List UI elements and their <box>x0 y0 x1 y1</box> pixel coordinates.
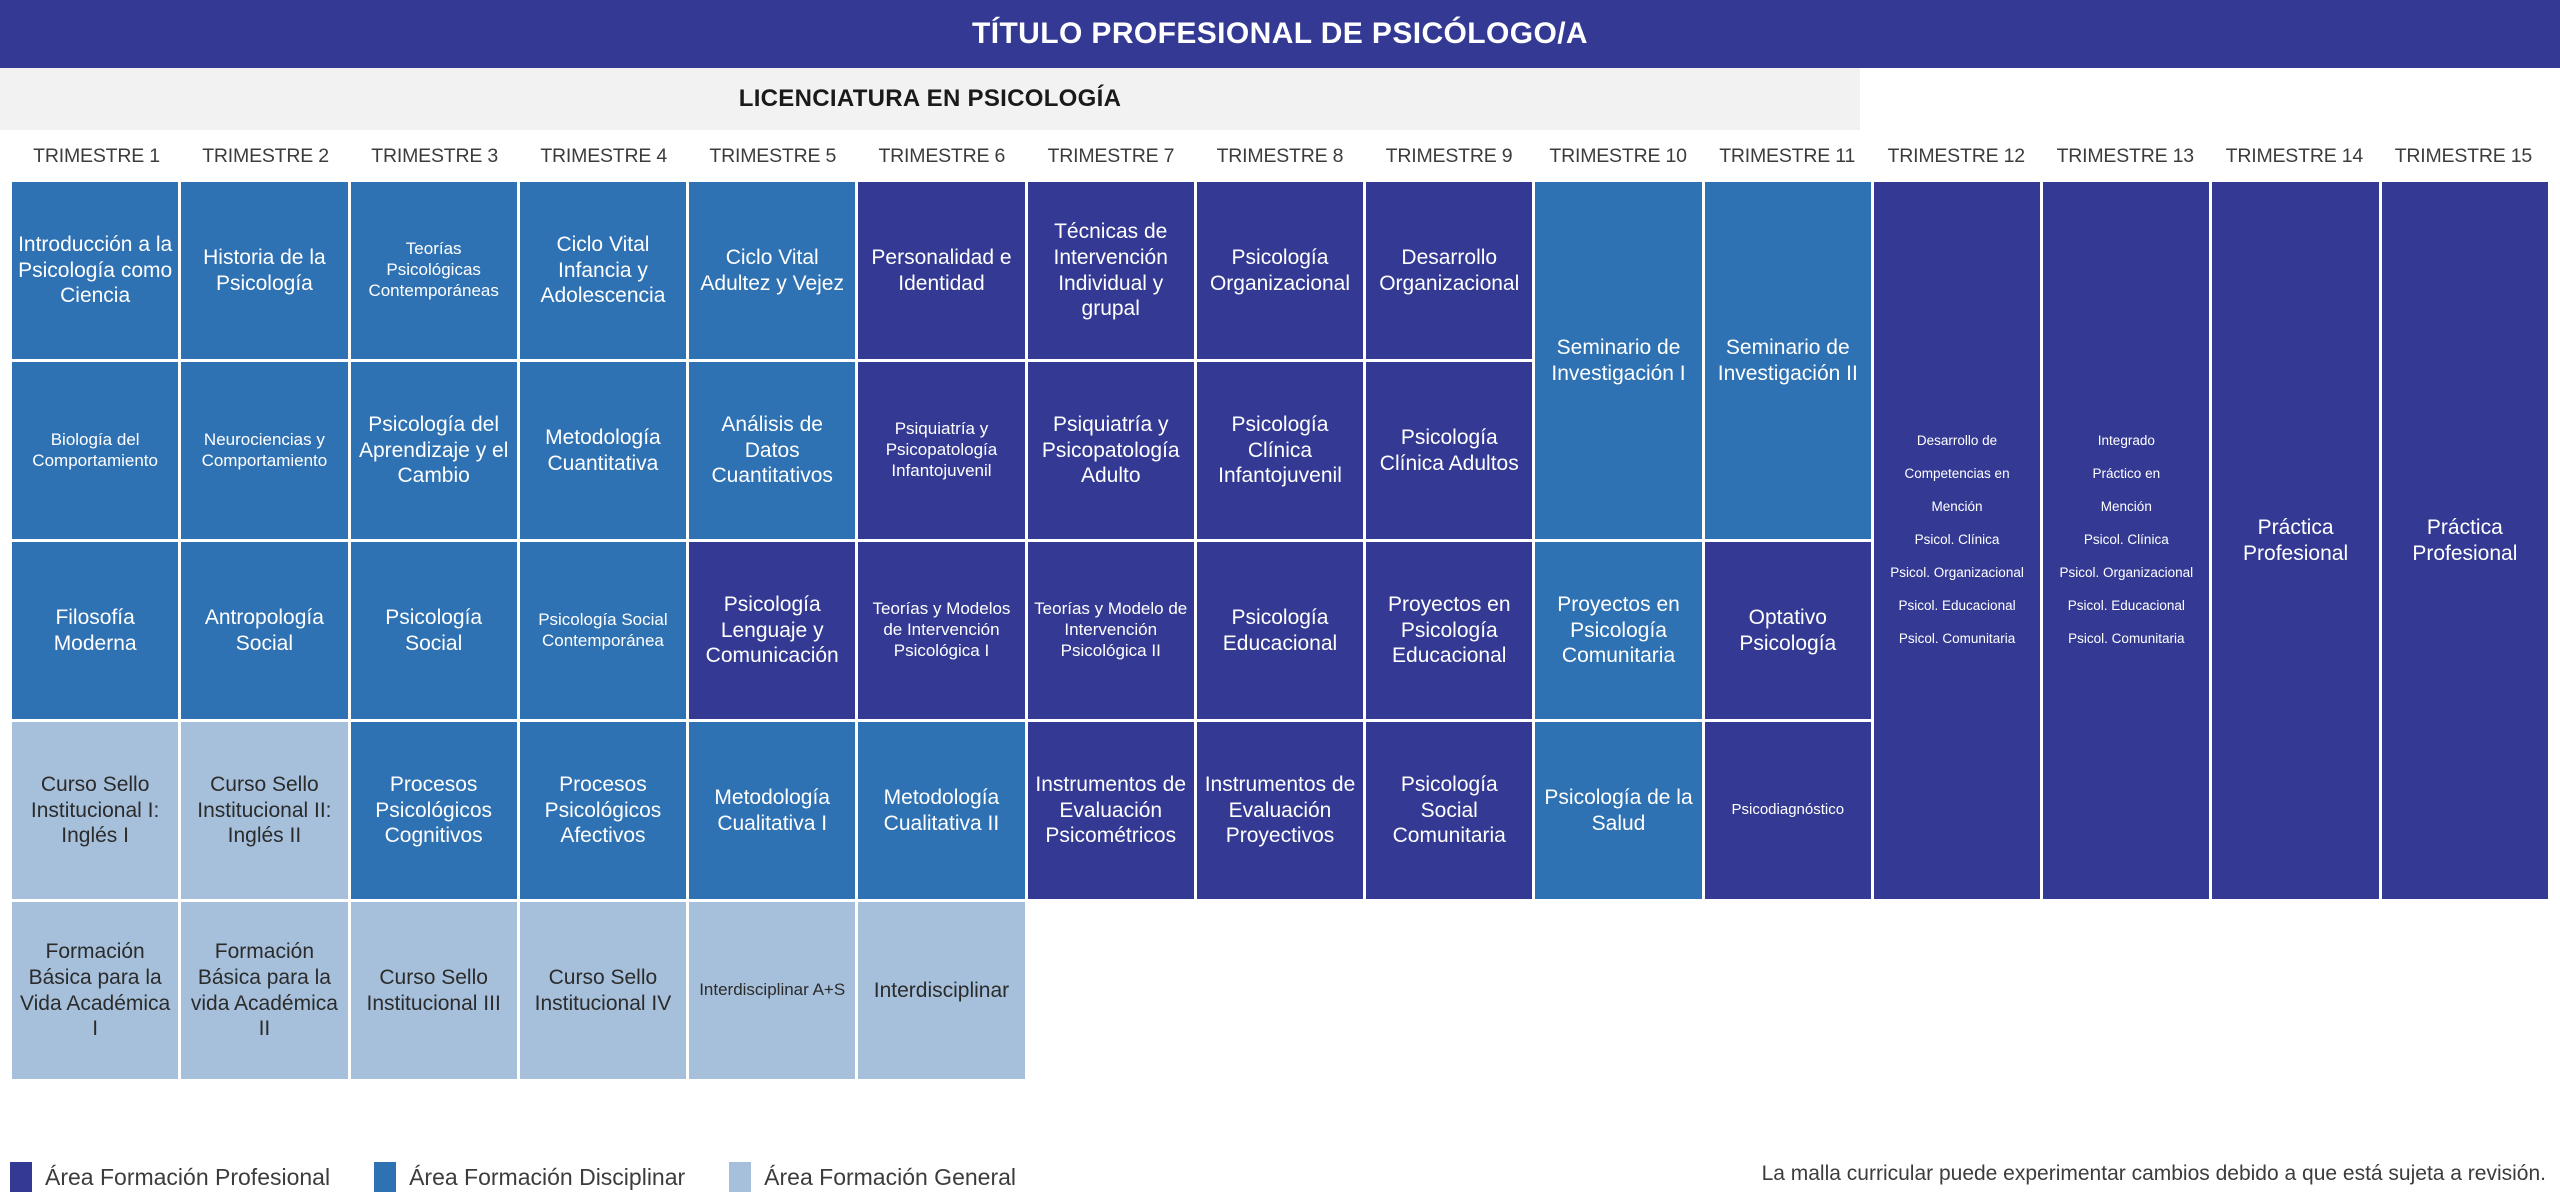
course-cell-t2-r5[interactable]: Formación Básica para la vida Académica … <box>181 902 347 1079</box>
mencion-line-3: Mención <box>1890 499 2024 515</box>
course-label: Psicología Lenguaje y Comunicación <box>695 592 849 669</box>
course-label: Filosofía Moderna <box>18 605 172 656</box>
mencion-line-1: Desarrollo de <box>1890 433 2024 449</box>
mencion-line-4: Psicol. Clínica <box>2060 532 2194 548</box>
trimester-header-12: TRIMESTRE 12 <box>1872 145 2041 168</box>
course-cell-t7-r1[interactable]: Técnicas de Intervención Individual y gr… <box>1028 182 1194 359</box>
course-cell-t3-r2[interactable]: Psicología del Aprendizaje y el Cambio <box>351 362 517 539</box>
course-cell-t6-r1[interactable]: Personalidad e Identidad <box>858 182 1024 359</box>
page-subtitle: LICENCIATURA EN PSICOLOGÍA <box>739 85 1121 113</box>
course-label: Teorías y Modelo de Intervención Psicoló… <box>1034 599 1188 661</box>
trimester-header-5: TRIMESTRE 5 <box>688 145 857 168</box>
course-cell-t14-practica-profesional[interactable]: Práctica Profesional <box>2212 182 2378 899</box>
course-label: Seminario de Investigación II <box>1711 335 1865 386</box>
course-cell-t1-r1[interactable]: Introducción a la Psicología como Cienci… <box>12 182 178 359</box>
course-label: Práctica Profesional <box>2218 515 2372 566</box>
course-label: Psicología Clínica Adultos <box>1372 425 1526 476</box>
title-bar: TÍTULO PROFESIONAL DE PSICÓLOGO/A <box>0 0 2560 68</box>
trimester-header-15: TRIMESTRE 15 <box>2379 145 2548 168</box>
course-label: Práctica Profesional <box>2388 515 2542 566</box>
trimester-header-8: TRIMESTRE 8 <box>1195 145 1364 168</box>
course-label: Instrumentos de Evaluación Psicométricos <box>1034 772 1188 849</box>
course-cell-t8-r1[interactable]: Psicología Organizacional <box>1197 182 1363 359</box>
course-cell-t5-r5[interactable]: Interdisciplinar A+S <box>689 902 855 1079</box>
mencion-line-2: Práctico en <box>2060 466 2194 482</box>
trimester-header-row: TRIMESTRE 1 TRIMESTRE 2 TRIMESTRE 3 TRIM… <box>12 130 2548 182</box>
course-cell-t4-r5[interactable]: Curso Sello Institucional IV <box>520 902 686 1079</box>
course-label: Metodología Cuantitativa <box>526 425 680 476</box>
course-cell-t4-r3[interactable]: Psicología Social Contemporánea <box>520 542 686 719</box>
legend-item-disciplinar: Área Formación Disciplinar <box>374 1162 685 1192</box>
mencion-line-4: Psicol. Clínica <box>1890 532 2024 548</box>
empty-cell-t15-r5 <box>2382 902 2548 1079</box>
course-label: Ciclo Vital Infancia y Adolescencia <box>526 232 680 309</box>
course-label: Técnicas de Intervención Individual y gr… <box>1034 219 1188 321</box>
course-label: Personalidad e Identidad <box>864 245 1018 296</box>
course-cell-t5-r2[interactable]: Análisis de Datos Cuantitativos <box>689 362 855 539</box>
course-label: Desarrollo Organizacional <box>1372 245 1526 296</box>
mencion-line-5: Psicol. Organizacional <box>2060 565 2194 581</box>
course-label: Formación Básica para la vida Académica … <box>187 939 341 1041</box>
course-cell-t1-r5[interactable]: Formación Básica para la Vida Académica … <box>12 902 178 1079</box>
mencion-line-1: Integrado <box>2060 433 2194 449</box>
empty-cell-t12-r5 <box>1874 902 2040 1079</box>
course-label: Introducción a la Psicología como Cienci… <box>18 232 172 309</box>
course-cell-t6-r5[interactable]: Interdisciplinar <box>858 902 1024 1079</box>
course-label: Desarrollo de Competencias en Mención Ps… <box>1890 433 2024 647</box>
course-cell-t10-seminario-1[interactable]: Seminario de Investigación I <box>1535 182 1701 539</box>
empty-cell-t10-r5 <box>1535 902 1701 1079</box>
course-label: Psicología Clínica Infantojuvenil <box>1203 412 1357 489</box>
course-label: Ciclo Vital Adultez y Vejez <box>695 245 849 296</box>
course-label: Curso Sello Institucional II: Inglés II <box>187 772 341 849</box>
course-cell-t2-r1[interactable]: Historia de la Psicología <box>181 182 347 359</box>
trimester-header-6: TRIMESTRE 6 <box>857 145 1026 168</box>
empty-cell-t14-r5 <box>2212 902 2378 1079</box>
course-label: Curso Sello Institucional IV <box>526 965 680 1016</box>
course-cell-t4-r1[interactable]: Ciclo Vital Infancia y Adolescencia <box>520 182 686 359</box>
course-cell-t5-r4[interactable]: Metodología Cualitativa I <box>689 722 855 899</box>
course-label: Curso Sello Institucional I: Inglés I <box>18 772 172 849</box>
course-grid-wrapper: Introducción a la Psicología como Cienci… <box>12 182 2548 1082</box>
course-cell-t3-r3[interactable]: Psicología Social <box>351 542 517 719</box>
course-label: Curso Sello Institucional III <box>357 965 511 1016</box>
course-label: Proyectos en Psicología Comunitaria <box>1541 592 1695 669</box>
course-label: Psiquiatría y Psicopatología Infantojuve… <box>864 419 1018 481</box>
course-label: Neurociencias y Comportamiento <box>187 430 341 471</box>
course-label: Historia de la Psicología <box>187 245 341 296</box>
mencion-line-2: Competencias en <box>1890 466 2024 482</box>
course-label: Psiquiatría y Psicopatología Adulto <box>1034 412 1188 489</box>
course-cell-t6-r4[interactable]: Metodología Cualitativa II <box>858 722 1024 899</box>
course-label: Interdisciplinar A+S <box>699 980 845 1001</box>
course-cell-t6-r3[interactable]: Teorías y Modelos de Intervención Psicol… <box>858 542 1024 719</box>
course-cell-t11-r4[interactable]: Psicodiagnóstico <box>1705 722 1871 899</box>
course-cell-t11-r3[interactable]: Optativo Psicología <box>1705 542 1871 719</box>
malla-curricular-page: TÍTULO PROFESIONAL DE PSICÓLOGO/A LICENC… <box>0 0 2560 1204</box>
course-cell-t8-r3[interactable]: Psicología Educacional <box>1197 542 1363 719</box>
footer-note: La malla curricular puede experimentar c… <box>1762 1162 2546 1186</box>
course-cell-t8-r2[interactable]: Psicología Clínica Infantojuvenil <box>1197 362 1363 539</box>
legend-item-profesional: Área Formación Profesional <box>10 1162 330 1192</box>
course-cell-t10-r3[interactable]: Proyectos en Psicología Comunitaria <box>1535 542 1701 719</box>
trimester-header-14: TRIMESTRE 14 <box>2210 145 2379 168</box>
course-cell-t1-r4[interactable]: Curso Sello Institucional I: Inglés I <box>12 722 178 899</box>
legend-label-disciplinar: Área Formación Disciplinar <box>409 1164 685 1191</box>
course-label: Psicología Social Comunitaria <box>1372 772 1526 849</box>
course-cell-t4-r4[interactable]: Procesos Psicológicos Afectivos <box>520 722 686 899</box>
course-cell-t2-r4[interactable]: Curso Sello Institucional II: Inglés II <box>181 722 347 899</box>
course-cell-t9-r3[interactable]: Proyectos en Psicología Educacional <box>1366 542 1532 719</box>
course-cell-t3-r4[interactable]: Procesos Psicológicos Cognitivos <box>351 722 517 899</box>
course-label: Integrado Práctico en Mención Psicol. Cl… <box>2060 433 2194 647</box>
course-cell-t7-r3[interactable]: Teorías y Modelo de Intervención Psicoló… <box>1028 542 1194 719</box>
course-label: Teorías Psicológicas Contemporáneas <box>357 239 511 301</box>
course-label: Optativo Psicología <box>1711 605 1865 656</box>
course-label: Instrumentos de Evaluación Proyectivos <box>1203 772 1357 849</box>
trimester-header-3: TRIMESTRE 3 <box>350 145 519 168</box>
trimester-header-7: TRIMESTRE 7 <box>1026 145 1195 168</box>
course-cell-t6-r2[interactable]: Psiquiatría y Psicopatología Infantojuve… <box>858 362 1024 539</box>
course-label: Proyectos en Psicología Educacional <box>1372 592 1526 669</box>
subtitle-bar: LICENCIATURA EN PSICOLOGÍA <box>0 68 1860 130</box>
mencion-line-7: Psicol. Comunitaria <box>1890 631 2024 647</box>
trimester-header-4: TRIMESTRE 4 <box>519 145 688 168</box>
course-label: Psicología Social <box>357 605 511 656</box>
course-cell-t12-mencion-desarrollo[interactable]: Desarrollo de Competencias en Mención Ps… <box>1874 182 2040 899</box>
course-cell-t5-r3[interactable]: Psicología Lenguaje y Comunicación <box>689 542 855 719</box>
course-cell-t9-r2[interactable]: Psicología Clínica Adultos <box>1366 362 1532 539</box>
course-label: Metodología Cualitativa I <box>695 785 849 836</box>
course-cell-t4-r2[interactable]: Metodología Cuantitativa <box>520 362 686 539</box>
mencion-line-6: Psicol. Educacional <box>2060 598 2194 614</box>
course-cell-t3-r5[interactable]: Curso Sello Institucional III <box>351 902 517 1079</box>
course-cell-t11-seminario-2[interactable]: Seminario de Investigación II <box>1705 182 1871 539</box>
trimester-header-11: TRIMESTRE 11 <box>1703 145 1872 168</box>
course-cell-t9-r1[interactable]: Desarrollo Organizacional <box>1366 182 1532 359</box>
course-cell-t5-r1[interactable]: Ciclo Vital Adultez y Vejez <box>689 182 855 359</box>
trimester-header-10: TRIMESTRE 10 <box>1534 145 1703 168</box>
course-label: Procesos Psicológicos Cognitivos <box>357 772 511 849</box>
course-label: Teorías y Modelos de Intervención Psicol… <box>864 599 1018 661</box>
course-cell-t7-r2[interactable]: Psiquiatría y Psicopatología Adulto <box>1028 362 1194 539</box>
course-label: Formación Básica para la Vida Académica … <box>18 939 172 1041</box>
course-label: Metodología Cualitativa II <box>864 785 1018 836</box>
course-cell-t10-r4[interactable]: Psicología de la Salud <box>1535 722 1701 899</box>
mencion-line-3: Mención <box>2060 499 2194 515</box>
trimester-header-9: TRIMESTRE 9 <box>1365 145 1534 168</box>
course-cell-t15-practica-profesional[interactable]: Práctica Profesional <box>2382 182 2548 899</box>
course-label: Análisis de Datos Cuantitativos <box>695 412 849 489</box>
page-title: TÍTULO PROFESIONAL DE PSICÓLOGO/A <box>972 17 1588 51</box>
course-cell-t3-r1[interactable]: Teorías Psicológicas Contemporáneas <box>351 182 517 359</box>
course-cell-t9-r4[interactable]: Psicología Social Comunitaria <box>1366 722 1532 899</box>
course-cell-t1-r3[interactable]: Filosofía Moderna <box>12 542 178 719</box>
course-cell-t2-r2[interactable]: Neurociencias y Comportamiento <box>181 362 347 539</box>
legend-item-general: Área Formación General <box>729 1162 1016 1192</box>
legend: Área Formación Profesional Área Formació… <box>10 1162 1060 1192</box>
empty-cell-t8-r5 <box>1197 902 1363 1079</box>
legend-label-profesional: Área Formación Profesional <box>45 1164 330 1191</box>
course-label: Psicología Educacional <box>1203 605 1357 656</box>
legend-swatch-disciplinar-icon <box>374 1162 396 1192</box>
course-label: Antropología Social <box>187 605 341 656</box>
mencion-line-5: Psicol. Organizacional <box>1890 565 2024 581</box>
empty-cell-t9-r5 <box>1366 902 1532 1079</box>
trimester-header-1: TRIMESTRE 1 <box>12 145 181 168</box>
course-cell-t1-r2[interactable]: Biología del Comportamiento <box>12 362 178 539</box>
course-label: Seminario de Investigación I <box>1541 335 1695 386</box>
legend-swatch-profesional-icon <box>10 1162 32 1192</box>
mencion-line-7: Psicol. Comunitaria <box>2060 631 2194 647</box>
course-cell-t8-r4[interactable]: Instrumentos de Evaluación Proyectivos <box>1197 722 1363 899</box>
empty-cell-t11-r5 <box>1705 902 1871 1079</box>
legend-swatch-general-icon <box>729 1162 751 1192</box>
trimester-header-13: TRIMESTRE 13 <box>2041 145 2210 168</box>
course-label: Psicología Social Contemporánea <box>526 610 680 651</box>
course-label: Psicología del Aprendizaje y el Cambio <box>357 412 511 489</box>
course-label: Biología del Comportamiento <box>18 430 172 471</box>
course-cell-t2-r3[interactable]: Antropología Social <box>181 542 347 719</box>
trimester-header-2: TRIMESTRE 2 <box>181 145 350 168</box>
course-label: Psicología Organizacional <box>1203 245 1357 296</box>
course-label: Interdisciplinar <box>874 978 1009 1004</box>
mencion-line-6: Psicol. Educacional <box>1890 598 2024 614</box>
course-label: Psicología de la Salud <box>1541 785 1695 836</box>
course-grid: Introducción a la Psicología como Cienci… <box>12 182 2548 1079</box>
course-label: Psicodiagnóstico <box>1732 801 1845 819</box>
empty-cell-t13-r5 <box>2043 902 2209 1079</box>
course-cell-t7-r4[interactable]: Instrumentos de Evaluación Psicométricos <box>1028 722 1194 899</box>
course-cell-t13-mencion-integrado[interactable]: Integrado Práctico en Mención Psicol. Cl… <box>2043 182 2209 899</box>
legend-label-general: Área Formación General <box>764 1164 1016 1191</box>
empty-cell-t7-r5 <box>1028 902 1194 1079</box>
course-label: Procesos Psicológicos Afectivos <box>526 772 680 849</box>
